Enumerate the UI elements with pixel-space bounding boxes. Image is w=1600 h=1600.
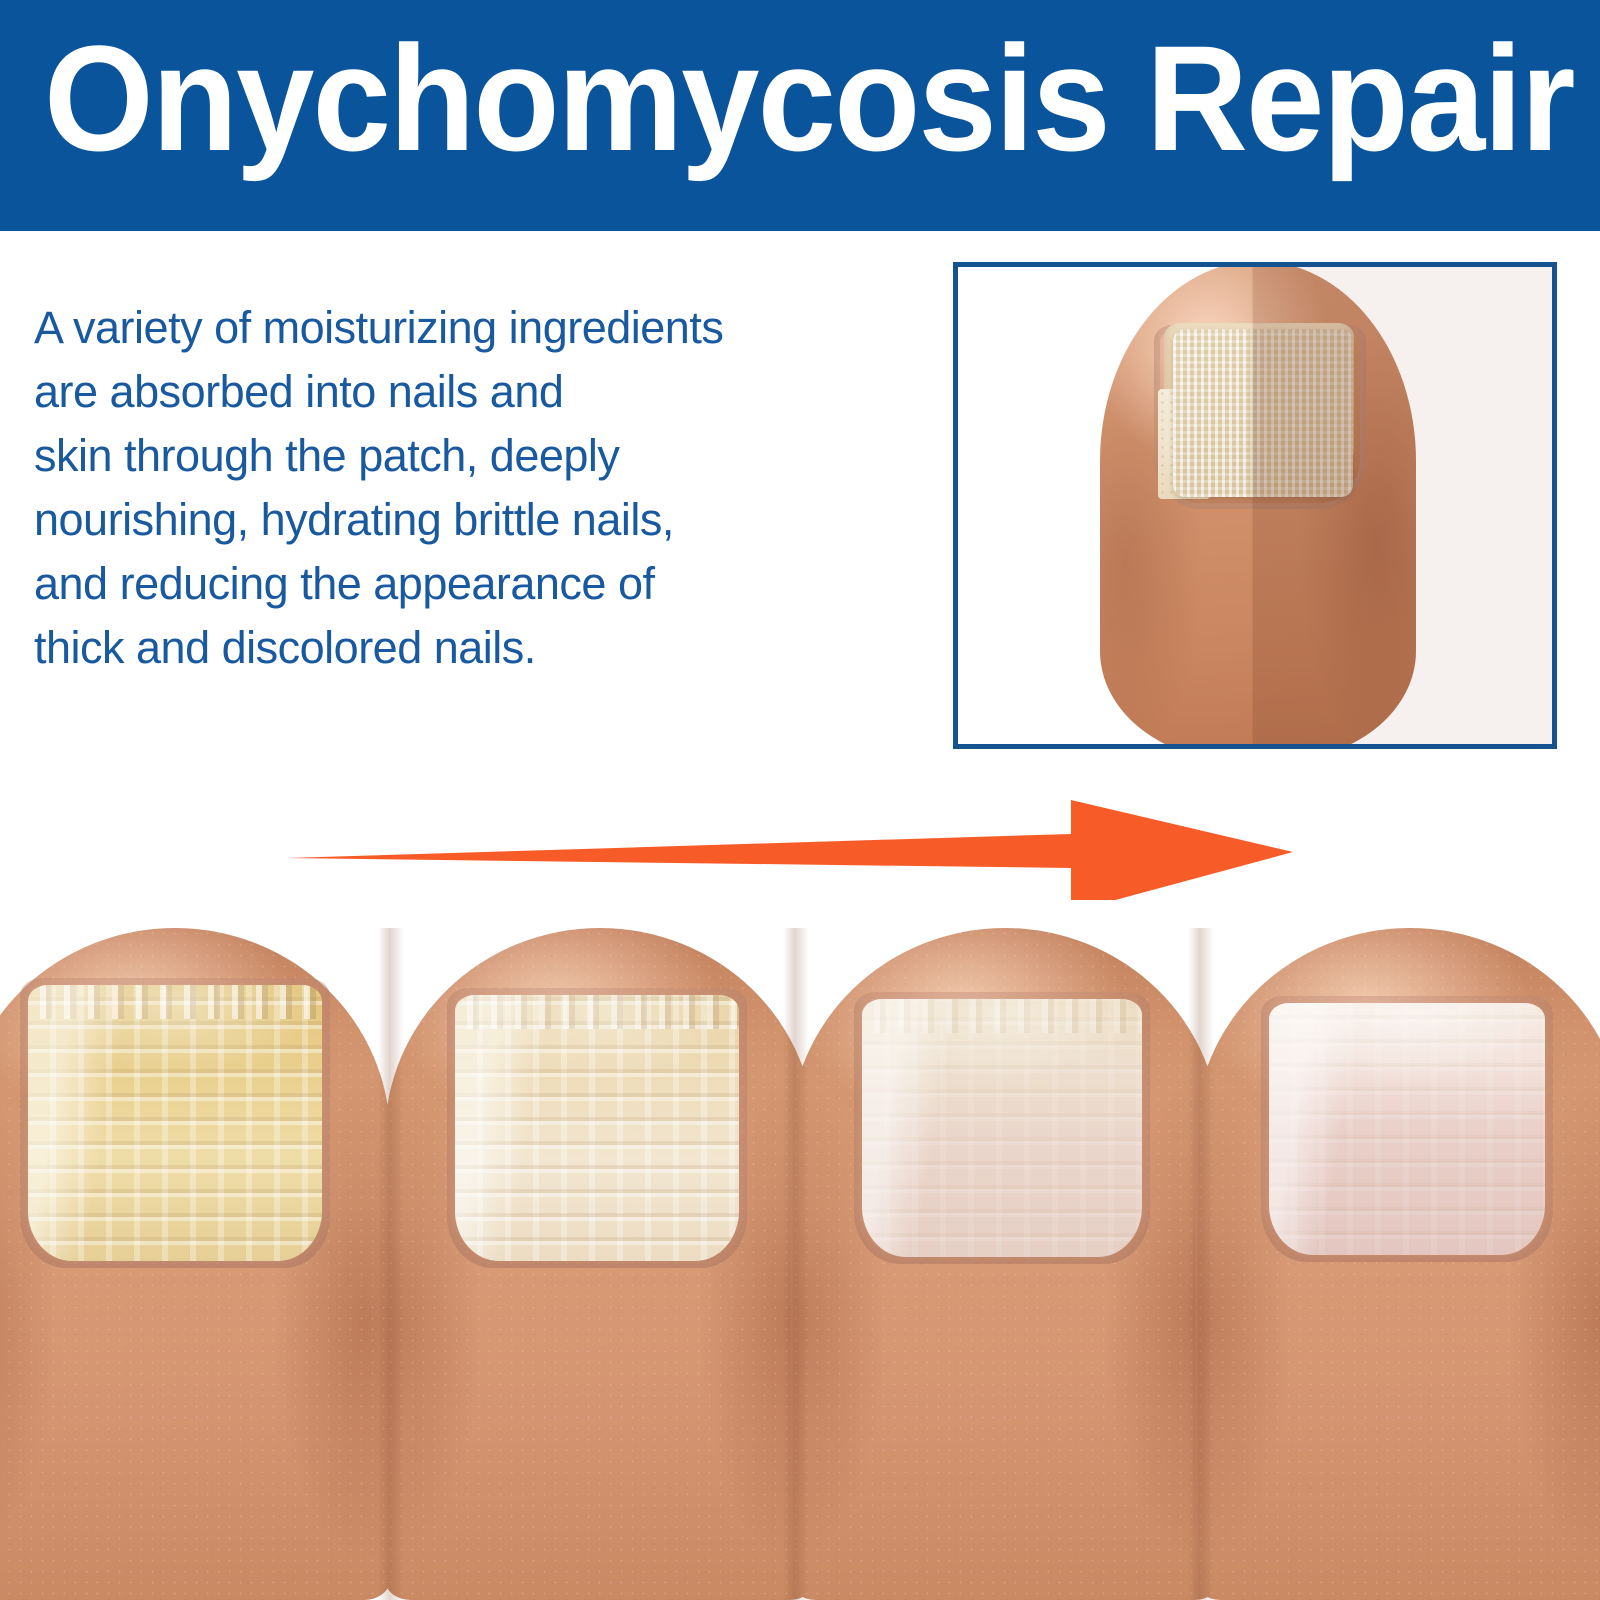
toenail-progression-row [0, 900, 1600, 1600]
infographic-page: Onychomycosis Repair A variety of moistu… [0, 0, 1600, 1600]
description-line-2: are absorbed into nails and [34, 360, 914, 424]
progress-arrow-icon [285, 786, 1295, 918]
nail-gloss [862, 999, 1142, 1257]
nail-gloss [1269, 1003, 1545, 1255]
description-line-6: thick and discolored nails. [34, 616, 914, 680]
nail-gloss [28, 985, 322, 1261]
toe-stage-3 [790, 900, 1220, 1600]
toe-with-patch-photo-frame [953, 262, 1557, 749]
toe-with-patch-photo [958, 267, 1552, 744]
toenail-healthy [1269, 1003, 1545, 1255]
toenail-near-normal [862, 999, 1142, 1257]
toe-stage-2 [385, 900, 815, 1600]
nail-gloss [455, 995, 739, 1261]
description-line-5: and reducing the appearance of [34, 552, 914, 616]
toenail-improving [455, 995, 739, 1261]
toe-stage-4 [1195, 900, 1600, 1600]
toenail-severe [28, 985, 322, 1261]
title-banner: Onychomycosis Repair [0, 0, 1600, 231]
page-title: Onychomycosis Repair [44, 18, 1574, 178]
description-line-4: nourishing, hydrating brittle nails, [34, 488, 914, 552]
description-paragraph: A variety of moisturizing ingredients ar… [34, 296, 914, 680]
inset-toe-shading [1100, 267, 1416, 744]
description-line-1: A variety of moisturizing ingredients [34, 296, 914, 360]
description-line-3: skin through the patch, deeply [34, 424, 914, 488]
toe-stage-1 [0, 900, 390, 1600]
